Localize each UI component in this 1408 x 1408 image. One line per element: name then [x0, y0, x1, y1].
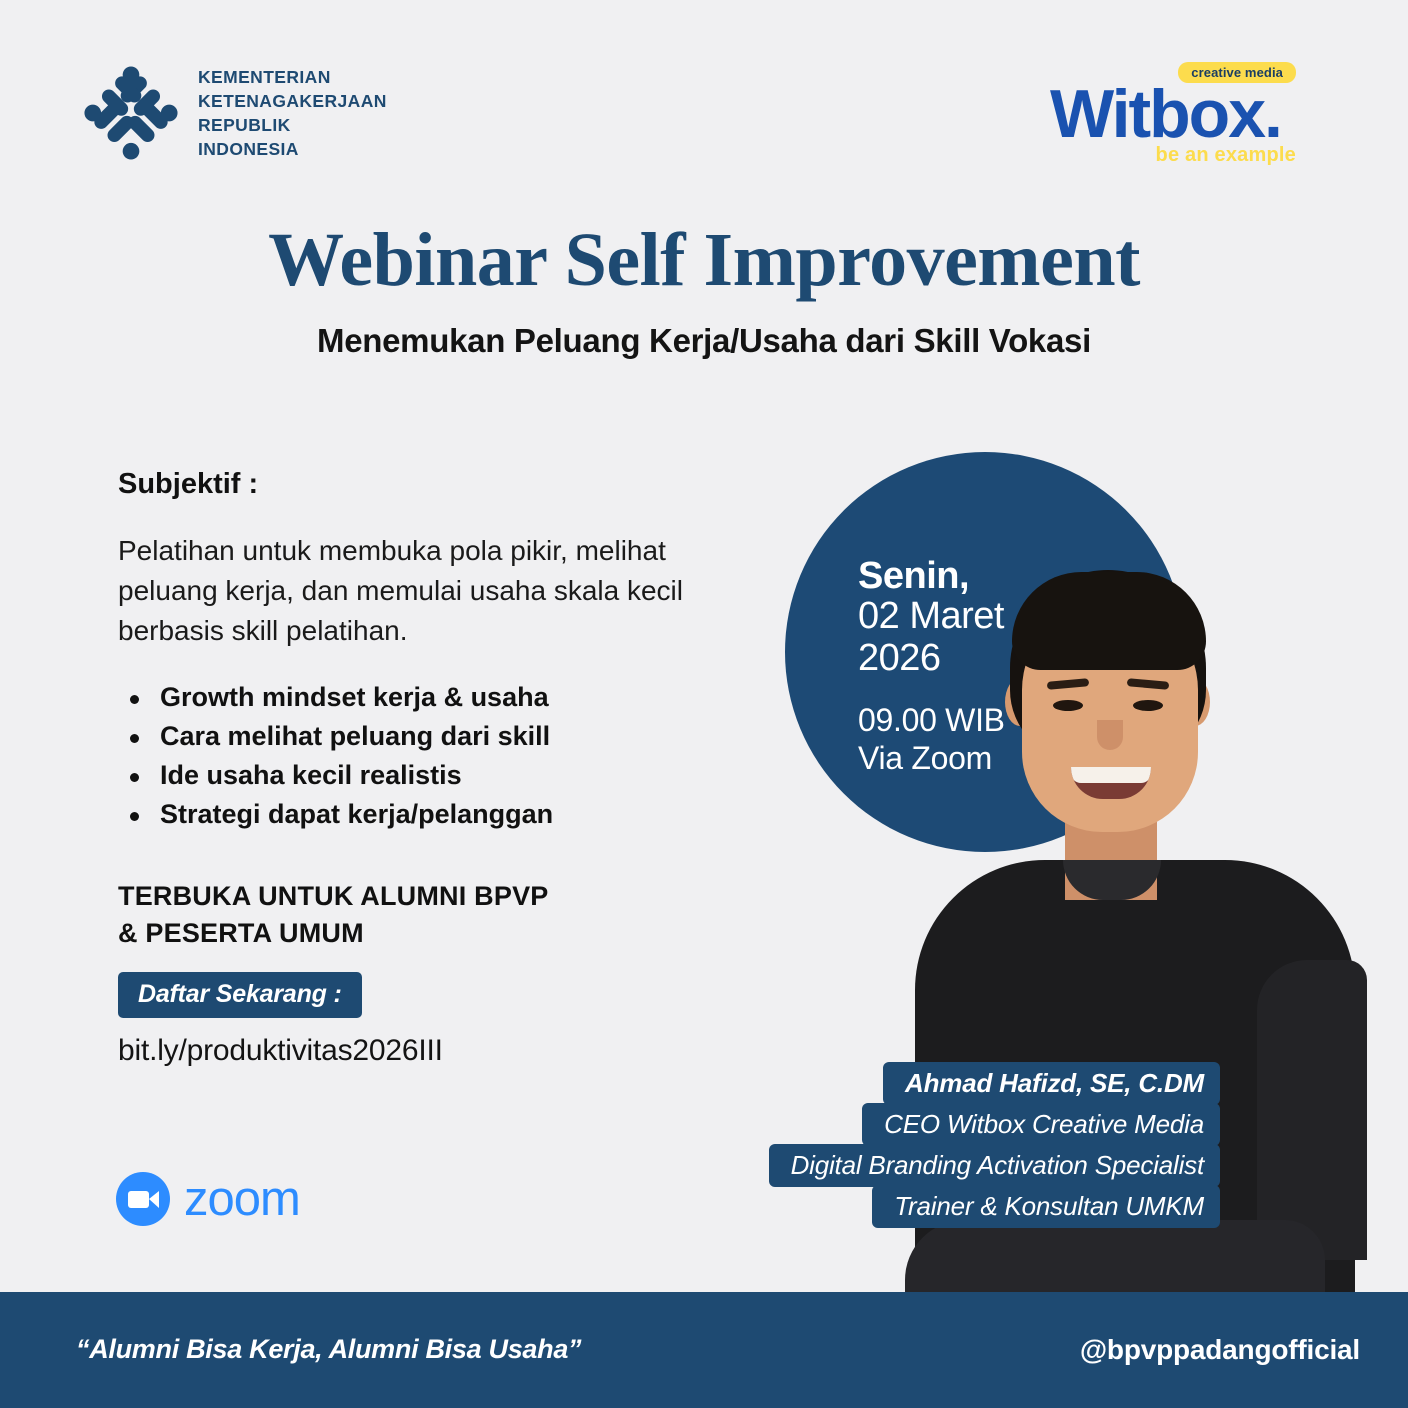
list-item: Growth mindset kerja & usaha	[118, 678, 758, 717]
event-day: Senin,	[858, 556, 1108, 596]
speaker-name: Ahmad Hafizd, SE, C.DM	[883, 1062, 1220, 1105]
page-title: Webinar Self Improvement	[0, 222, 1408, 298]
register-now-badge[interactable]: Daftar Sekarang :	[118, 972, 362, 1018]
page-subtitle: Menemukan Peluang Kerja/Usaha dari Skill…	[0, 320, 1408, 361]
left-content-column: Subjektif : Pelatihan untuk membuka pola…	[118, 470, 758, 834]
speaker-pants	[905, 1220, 1325, 1300]
zoom-wordmark: zoom	[184, 1175, 300, 1224]
zoom-camera-body	[128, 1191, 149, 1208]
witbox-logo-block: creative media Witbox. be an example	[1050, 62, 1300, 172]
event-time-platform: 09.00 WIB Via Zoom	[858, 702, 1108, 778]
ministry-line-3: REPUBLIK INDONESIA	[198, 113, 387, 161]
speaker-role-1: CEO Witbox Creative Media	[862, 1103, 1220, 1146]
footer-social-handle[interactable]: @bpvppadangofficial	[1080, 1336, 1360, 1364]
list-item: Cara melihat peluang dari skill	[118, 717, 758, 756]
zoom-camera-icon	[116, 1172, 170, 1226]
speaker-credentials: Ahmad Hafizd, SE, C.DM CEO Witbox Creati…	[769, 1062, 1220, 1226]
footer-tagline: “Alumni Bisa Kerja, Alumni Bisa Usaha”	[76, 1336, 581, 1363]
webinar-poster: KEMENTERIAN KETENAGAKERJAAN REPUBLIK IND…	[0, 0, 1408, 1408]
event-date: 02 Maret	[858, 596, 1108, 638]
list-item: Strategi dapat kerja/pelanggan	[118, 795, 758, 834]
ministry-logo-block: KEMENTERIAN KETENAGAKERJAAN REPUBLIK IND…	[82, 58, 382, 168]
ministry-line-1: KEMENTERIAN	[198, 65, 387, 89]
event-year: 2026	[858, 638, 1108, 680]
audience-line-1: TERBUKA UNTUK ALUMNI BPVP	[118, 878, 549, 915]
event-platform: Via Zoom	[858, 740, 1108, 778]
speaker-role-3: Trainer & Konsultan UMKM	[872, 1185, 1220, 1228]
zoom-camera-lens	[149, 1191, 159, 1208]
audience-note: TERBUKA UNTUK ALUMNI BPVP & PESERTA UMUM	[118, 878, 549, 953]
ministry-line-2: KETENAGAKERJAAN	[198, 89, 387, 113]
speaker-role-2: Digital Branding Activation Specialist	[769, 1144, 1220, 1187]
speaker-arm	[1257, 960, 1367, 1260]
witbox-wordmark: Witbox.	[1050, 80, 1281, 148]
section-heading-subjektif: Subjektif :	[118, 470, 758, 499]
event-details: Senin, 02 Maret 2026 09.00 WIB Via Zoom	[858, 556, 1108, 777]
ministry-name: KEMENTERIAN KETENAGAKERJAAN REPUBLIK IND…	[198, 65, 387, 162]
section-description: Pelatihan untuk membuka pola pikir, meli…	[118, 531, 738, 650]
speaker-eye-right	[1133, 700, 1163, 711]
kemnaker-logo-icon	[82, 64, 180, 162]
event-time: 09.00 WIB	[858, 702, 1108, 740]
footer-bar: “Alumni Bisa Kerja, Alumni Bisa Usaha” @…	[0, 1292, 1408, 1408]
zoom-logo-block: zoom	[116, 1172, 300, 1226]
list-item: Ide usaha kecil realistis	[118, 756, 758, 795]
registration-link[interactable]: bit.ly/produktivitas2026III	[118, 1033, 443, 1069]
audience-line-2: & PESERTA UMUM	[118, 915, 549, 952]
witbox-tagline: be an example	[1156, 145, 1296, 165]
benefits-list: Growth mindset kerja & usaha Cara meliha…	[118, 678, 758, 834]
